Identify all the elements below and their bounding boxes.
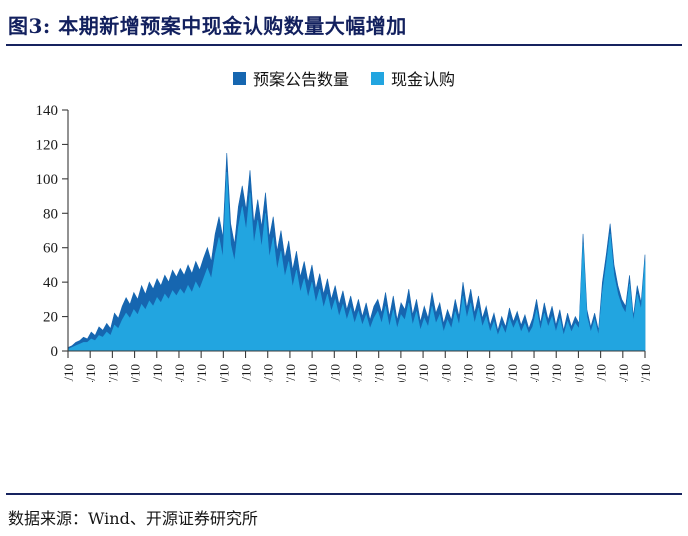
legend-label-cash-subscription: 现金认购 <box>391 66 455 90</box>
x-tick-label: 2016/10/10 <box>305 364 320 382</box>
x-axis-labels: 2014/1/102014/4/102014/7/102014/10/10201… <box>61 364 653 382</box>
x-tick-label: 2015/7/10 <box>194 364 209 382</box>
legend-swatch-icon <box>233 72 246 85</box>
x-tick-label: 2018/1/10 <box>416 364 431 382</box>
x-tick-label: 2018/10/10 <box>483 364 498 382</box>
page-title: 图3: 本期新增预案中现金认购数量大幅增加 <box>8 10 407 39</box>
chart-legend: 预案公告数量 现金认购 <box>0 66 688 90</box>
legend-item-plan-announcement[interactable]: 预案公告数量 <box>233 66 349 90</box>
area-chart-svg: 020406080100120140 2014/1/102014/4/10201… <box>0 92 688 382</box>
x-axis-ticks <box>68 351 645 358</box>
chart-plot-area: 020406080100120140 2014/1/102014/4/10201… <box>0 92 688 382</box>
series-area <box>68 172 645 351</box>
y-tick-label: 100 <box>36 172 59 188</box>
figure-title-bar: 图3: 本期新增预案中现金认购数量大幅增加 <box>0 4 688 44</box>
y-tick-label: 0 <box>51 344 59 360</box>
x-tick-label: 2017/1/10 <box>327 364 342 382</box>
x-tick-label: 2015/10/10 <box>216 364 231 382</box>
x-tick-label: 2019/4/10 <box>527 364 542 382</box>
x-tick-label: 2019/1/10 <box>505 364 520 382</box>
x-tick-label: 2017/4/10 <box>350 364 365 382</box>
x-tick-label: 2016/1/10 <box>239 364 254 382</box>
series-areas <box>68 153 645 351</box>
x-tick-label: 2019/10/10 <box>571 364 586 382</box>
x-tick-label: 2018/4/10 <box>438 364 453 382</box>
x-tick-label: 2015/4/10 <box>172 364 187 382</box>
figure-container: 图3: 本期新增预案中现金认购数量大幅增加 预案公告数量 现金认购 020406… <box>0 0 688 536</box>
y-tick-label: 40 <box>43 275 58 291</box>
y-tick-label: 20 <box>43 310 58 326</box>
x-tick-label: 2020/1/10 <box>594 364 609 382</box>
title-divider-top <box>6 44 682 46</box>
x-tick-label: 2017/7/10 <box>372 364 387 382</box>
legend-item-cash-subscription[interactable]: 现金认购 <box>371 66 455 90</box>
x-tick-label: 2018/7/10 <box>460 364 475 382</box>
x-tick-label: 2017/10/10 <box>394 364 409 382</box>
y-tick-label: 120 <box>36 137 59 153</box>
source-note: 数据来源：Wind、开源证券研究所 <box>8 505 258 529</box>
source-divider <box>6 493 682 495</box>
y-tick-label: 60 <box>43 241 58 257</box>
x-tick-label: 2014/4/10 <box>83 364 98 382</box>
y-tick-label: 80 <box>43 206 58 222</box>
x-tick-label: 2019/7/10 <box>549 364 564 382</box>
legend-label-plan-announcement: 预案公告数量 <box>253 66 349 90</box>
x-tick-label: 2015/1/10 <box>150 364 165 382</box>
x-tick-label: 2014/1/10 <box>61 364 76 382</box>
x-tick-label: 2016/7/10 <box>283 364 298 382</box>
x-tick-label: 2014/7/10 <box>105 364 120 382</box>
x-tick-label: 2016/4/10 <box>261 364 276 382</box>
x-tick-label: 2020/4/10 <box>616 364 631 382</box>
legend-swatch-icon <box>371 72 384 85</box>
y-tick-label: 140 <box>36 103 59 119</box>
x-tick-label: 2020/7/10 <box>638 364 653 382</box>
y-axis-ticks: 020406080100120140 <box>36 103 69 360</box>
x-tick-label: 2014/10/10 <box>128 364 143 382</box>
